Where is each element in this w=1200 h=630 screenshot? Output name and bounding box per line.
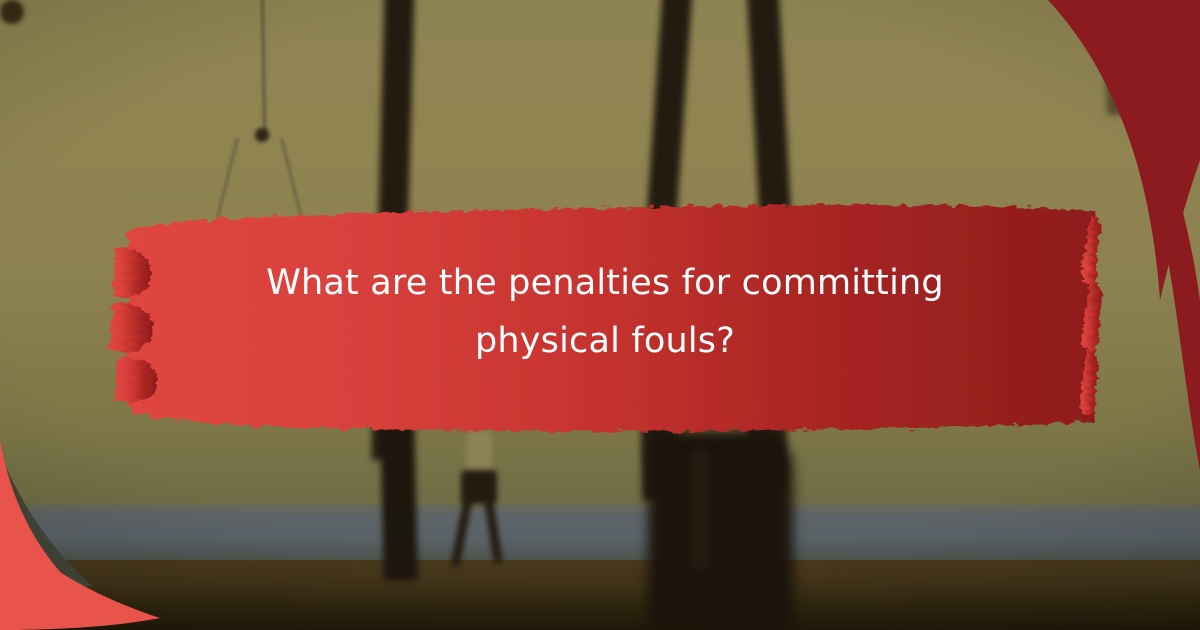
banner-headline-line-1: What are the penalties for committing <box>266 257 944 310</box>
share-card-canvas: What are the penalties for committing ph… <box>0 0 1200 630</box>
brush-stroke-banner: What are the penalties for committing ph… <box>95 185 1115 440</box>
banner-headline-line-2: physical fouls? <box>475 315 735 368</box>
banner-text-block: What are the penalties for committing ph… <box>95 185 1115 440</box>
